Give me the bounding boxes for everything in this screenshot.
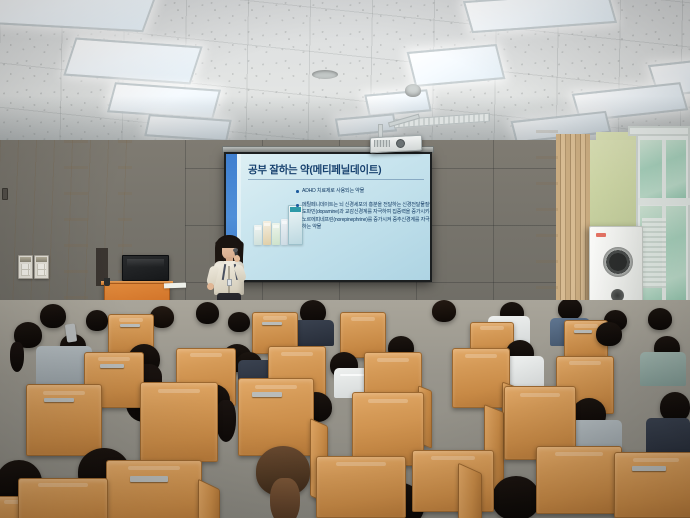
slide-bullet: 메틸페니데이트는 뇌 신경세포의 흥분을 전달하는 신경전달물질인 도파민(do…: [302, 202, 432, 232]
ceiling: [0, 0, 690, 152]
student-ponytail: [10, 342, 24, 372]
auditorium-seat[interactable]: [614, 452, 690, 518]
air-purifier-fan-icon: [603, 247, 633, 277]
auditorium-seat[interactable]: [140, 382, 218, 462]
auditorium-seat[interactable]: [106, 460, 202, 518]
slide-title-underline: [248, 179, 424, 180]
window-header-trim: [628, 126, 690, 136]
bullet-dot-icon: [296, 204, 299, 207]
wall-control-panel[interactable]: [18, 255, 33, 279]
student-head: [558, 300, 582, 320]
student-head: [648, 308, 672, 330]
auditorium-seat[interactable]: [26, 384, 102, 456]
auditorium-photo: 공부 잘하는 약(메티페닐데이트) ADHD 치료제로 사용되는 약물 메틸페니…: [0, 0, 690, 518]
auditorium-seat[interactable]: [536, 446, 622, 514]
product-box-header-band: [290, 207, 301, 212]
projection-screen: 공부 잘하는 약(메티페닐데이트) ADHD 치료제로 사용되는 약물 메틸페니…: [224, 152, 432, 282]
projector-vent-grille: [374, 140, 390, 147]
seat-number-plate: [632, 466, 666, 471]
wall-switch[interactable]: [2, 188, 8, 200]
student-head: [40, 304, 66, 328]
product-box: [281, 219, 288, 245]
seat-number-plate: [252, 392, 282, 397]
wood-slat-wall: [556, 134, 590, 314]
auditorium-seat[interactable]: [18, 478, 108, 518]
student-ponytail: [216, 400, 236, 442]
product-box: [272, 223, 280, 245]
seat-number-plate: [44, 398, 74, 402]
slide-bullet-text: 메틸페니데이트는 뇌 신경세포의 흥분을 전달하는 신경전달물질인 도파민(do…: [302, 202, 432, 230]
presenter-id-badge: [227, 279, 232, 286]
papers: [164, 283, 186, 289]
seat-number-plate: [120, 324, 140, 327]
student-head: [228, 312, 250, 332]
air-purifier-logo: [596, 233, 606, 237]
slide-product-image: [254, 201, 302, 245]
student-head: [492, 476, 540, 518]
seat-armrest: [458, 463, 482, 518]
student-head: [196, 302, 219, 324]
seat-number-plate: [130, 476, 168, 482]
window-blind: [642, 218, 666, 288]
wall-control-panel[interactable]: [34, 255, 49, 279]
presenter-bangs: [220, 237, 238, 248]
student-torso: [294, 320, 334, 346]
ceiling-vent: [312, 70, 338, 79]
auditorium-seat[interactable]: [238, 378, 314, 456]
wood-beam-right: [536, 130, 558, 320]
seat-number-plate: [100, 364, 124, 368]
projector-lens-icon: [396, 139, 405, 148]
student-head: [432, 300, 456, 322]
student-ponytail: [270, 478, 300, 518]
audience-seating-area: [0, 300, 690, 518]
product-box: [263, 221, 271, 245]
cup: [104, 278, 110, 286]
slide-bullet-text: ADHD 치료제로 사용되는 약물: [302, 188, 364, 194]
student-torso: [640, 352, 686, 386]
product-box: [254, 225, 262, 245]
bullet-dot-icon: [296, 190, 299, 193]
seat-number-plate: [262, 322, 282, 325]
auditorium-seat[interactable]: [316, 456, 406, 518]
seat-number-plate: [574, 330, 592, 333]
presentation-slide: 공부 잘하는 약(메티페닐데이트) ADHD 치료제로 사용되는 약물 메틸페니…: [226, 154, 430, 280]
student-head: [86, 310, 108, 331]
slide-bullet: ADHD 치료제로 사용되는 약물: [302, 188, 430, 195]
podium-monitor[interactable]: [122, 255, 169, 281]
slide-title: 공부 잘하는 약(메티페닐데이트): [248, 164, 428, 176]
student-head: [596, 322, 622, 346]
